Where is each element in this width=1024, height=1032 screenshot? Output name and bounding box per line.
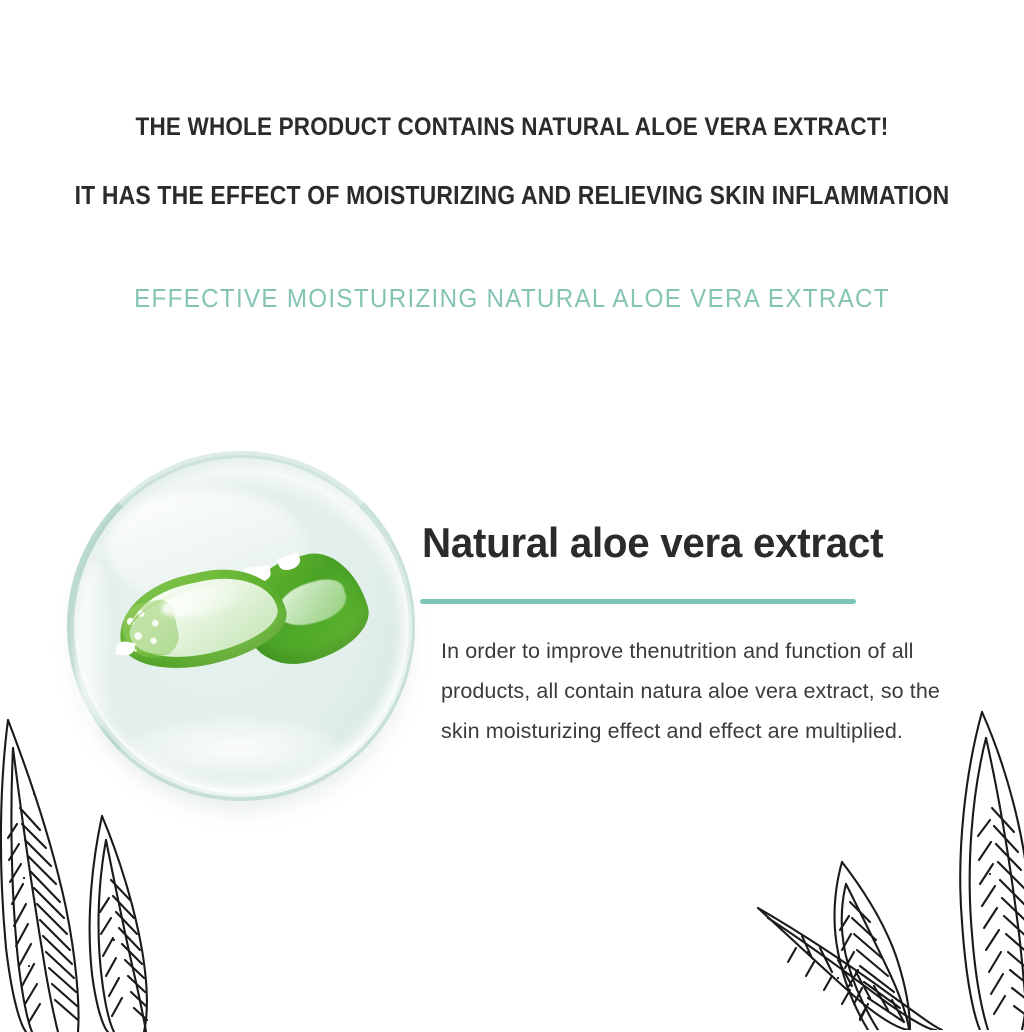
feature-heading: Natural aloe vera extract — [422, 519, 883, 567]
heading-divider — [420, 599, 856, 604]
headline-secondary: IT HAS THE EFFECT OF MOISTURIZING AND RE… — [51, 182, 973, 211]
hand-drawn-leaf-pair-icon — [0, 712, 204, 1032]
subtitle-accent: EFFECTIVE MOISTURIZING NATURAL ALOE VERA… — [36, 283, 988, 314]
aloe-slices-group — [118, 551, 368, 681]
promo-banner: THE WHOLE PRODUCT CONTAINS NATURAL ALOE … — [0, 0, 1024, 1024]
hand-drawn-leaf-trio-icon — [750, 690, 1024, 1030]
dish-highlight-left — [76, 563, 116, 733]
headline-primary: THE WHOLE PRODUCT CONTAINS NATURAL ALOE … — [51, 113, 973, 142]
